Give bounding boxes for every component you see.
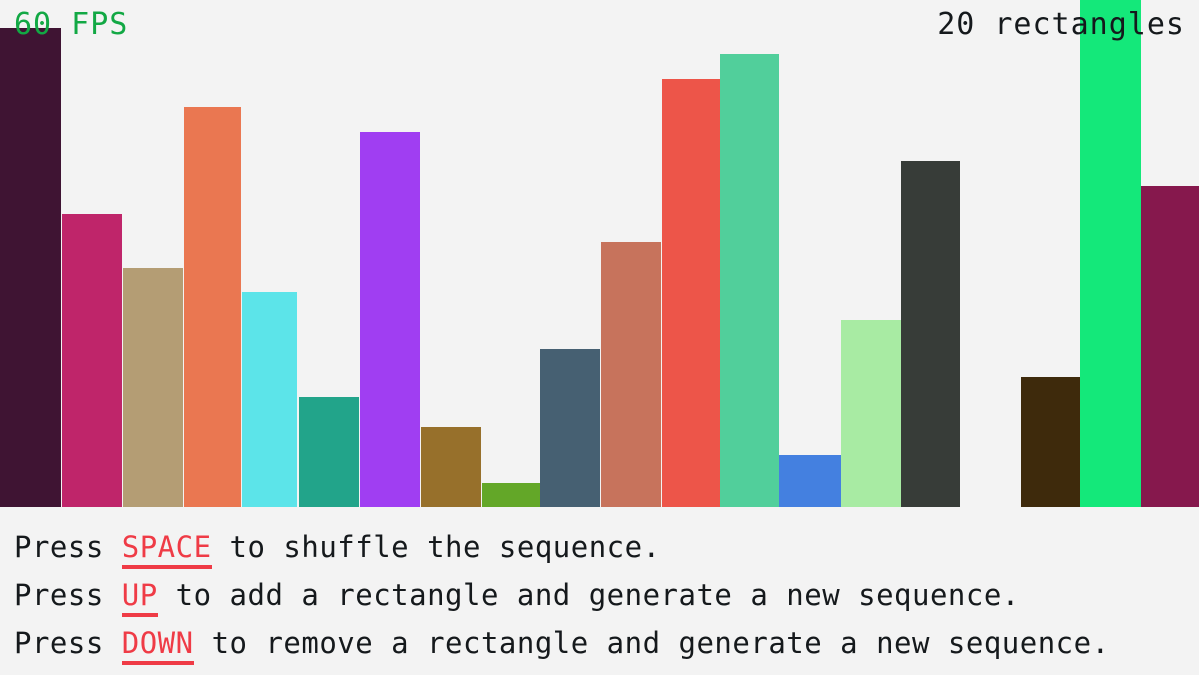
chart-bar <box>601 242 661 507</box>
chart-bar <box>662 79 720 507</box>
instruction-line: Press UP to add a rectangle and generate… <box>14 571 1199 619</box>
keyboard-key-space[interactable]: SPACE <box>122 530 212 569</box>
chart-bar <box>540 349 600 507</box>
chart-bar <box>360 132 420 507</box>
instruction-suffix: to shuffle the sequence. <box>212 530 661 564</box>
chart-bar <box>421 427 481 507</box>
instruction-suffix: to remove a rectangle and generate a new… <box>194 626 1110 660</box>
chart-bar <box>1141 186 1199 507</box>
keyboard-key-down[interactable]: DOWN <box>122 626 194 665</box>
chart-bar <box>1080 0 1141 507</box>
chart-bar <box>123 268 183 507</box>
instruction-suffix: to add a rectangle and generate a new se… <box>158 578 1020 612</box>
chart-bar <box>841 320 901 507</box>
chart-bar <box>901 161 960 507</box>
chart-bar <box>62 214 122 507</box>
instruction-prefix: Press <box>14 626 122 660</box>
chart-bar <box>184 107 241 507</box>
chart-bar <box>779 455 841 507</box>
chart-bar <box>0 28 61 507</box>
chart-bar <box>482 483 540 507</box>
instruction-prefix: Press <box>14 530 122 564</box>
fps-counter: 60 FPS <box>14 8 128 42</box>
instruction-line: Press DOWN to remove a rectangle and gen… <box>14 619 1199 667</box>
chart-bar <box>299 397 359 507</box>
instruction-line: Press SPACE to shuffle the sequence. <box>14 523 1199 571</box>
app-window: 60 FPS 20 rectangles Press SPACE to shuf… <box>0 0 1199 675</box>
keyboard-key-up[interactable]: UP <box>122 578 158 617</box>
chart-bar <box>242 292 297 507</box>
rectangle-count-label: 20 rectangles <box>937 8 1185 42</box>
instructions-panel: Press SPACE to shuffle the sequence.Pres… <box>0 507 1199 675</box>
rectangle-chart-canvas[interactable] <box>0 0 1199 507</box>
chart-bar <box>1021 377 1080 507</box>
instruction-prefix: Press <box>14 578 122 612</box>
chart-bar <box>720 54 779 507</box>
